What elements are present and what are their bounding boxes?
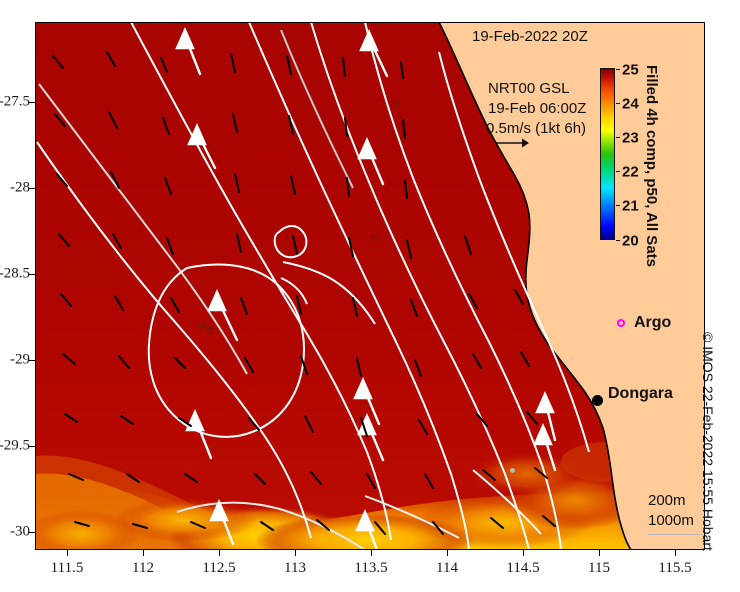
y-tick-label-1: -28 — [10, 180, 30, 197]
colorbar-tick-25 — [616, 69, 620, 70]
oceancurrent-map-figure: 19-Feb-2022 20Z NRT00 GSL 19-Feb 06:00Z … — [0, 0, 740, 592]
dongara-place-label: Dongara — [608, 385, 673, 403]
x-tick-2 — [219, 550, 220, 556]
argo-legend-label: Argo — [634, 314, 671, 332]
x-tick-4 — [371, 550, 372, 556]
colorbar-label-20: 20 — [622, 233, 639, 250]
x-tick-3 — [295, 550, 296, 556]
argo-legend-marker-icon — [617, 319, 625, 327]
sst-colorbar — [600, 68, 615, 240]
x-tick-label-4: 113.5 — [354, 560, 387, 577]
colorbar-label-23: 23 — [622, 130, 639, 147]
velocity-scale-arrow-icon — [494, 136, 530, 150]
x-tick-label-0: 111.5 — [51, 560, 84, 577]
x-tick-0 — [67, 550, 68, 556]
colorbar-label-25: 25 — [622, 62, 639, 79]
x-tick-label-2: 112.5 — [202, 560, 235, 577]
y-tick-label-5: -30 — [10, 524, 30, 541]
x-tick-6 — [523, 550, 524, 556]
depth-contour-label-200m: 200m — [648, 492, 686, 509]
dongara-place-marker-icon — [592, 395, 603, 406]
colorbar-label-24: 24 — [622, 96, 639, 113]
x-tick-label-7: 115 — [588, 560, 610, 577]
y-tick-label-3: -29 — [10, 352, 30, 369]
depth-contour-rule — [648, 534, 702, 535]
y-tick-label-4: -29.5 — [0, 438, 30, 455]
depth-contour-label-1000m: 1000m — [648, 512, 694, 529]
colorbar-tick-22 — [616, 171, 620, 172]
x-tick-1 — [143, 550, 144, 556]
x-tick-7 — [599, 550, 600, 556]
x-tick-label-5: 114 — [436, 560, 458, 577]
y-tick-label-2: -28.5 — [0, 266, 30, 283]
product-line-2: 19-Feb 06:00Z — [488, 100, 586, 117]
colorbar-tick-20 — [616, 240, 620, 241]
x-tick-label-6: 114.5 — [506, 560, 539, 577]
x-tick-label-1: 112 — [132, 560, 154, 577]
colorbar-title: Filled 4h comp, p50, All Sats — [643, 65, 660, 245]
colorbar-label-22: 22 — [622, 164, 639, 181]
x-tick-label-3: 113 — [284, 560, 306, 577]
timestamp-overlay: 19-Feb-2022 20Z — [472, 28, 588, 45]
x-tick-8 — [675, 550, 676, 556]
copyright-notice: © IMOS 22-Feb-2022 15:55 Hobart — [700, 332, 716, 551]
colorbar-label-21: 21 — [622, 198, 639, 215]
product-line-1: NRT00 GSL — [488, 80, 569, 97]
product-line-3: 0.5m/s (1kt 6h) — [486, 120, 586, 137]
argo-float-marker[interactable] — [510, 468, 515, 473]
colorbar-tick-23 — [616, 137, 620, 138]
x-tick-label-8: 115.5 — [658, 560, 691, 577]
colorbar-tick-21 — [616, 205, 620, 206]
colorbar-tick-24 — [616, 103, 620, 104]
x-tick-5 — [447, 550, 448, 556]
y-tick-label-0: -27.5 — [0, 94, 30, 111]
